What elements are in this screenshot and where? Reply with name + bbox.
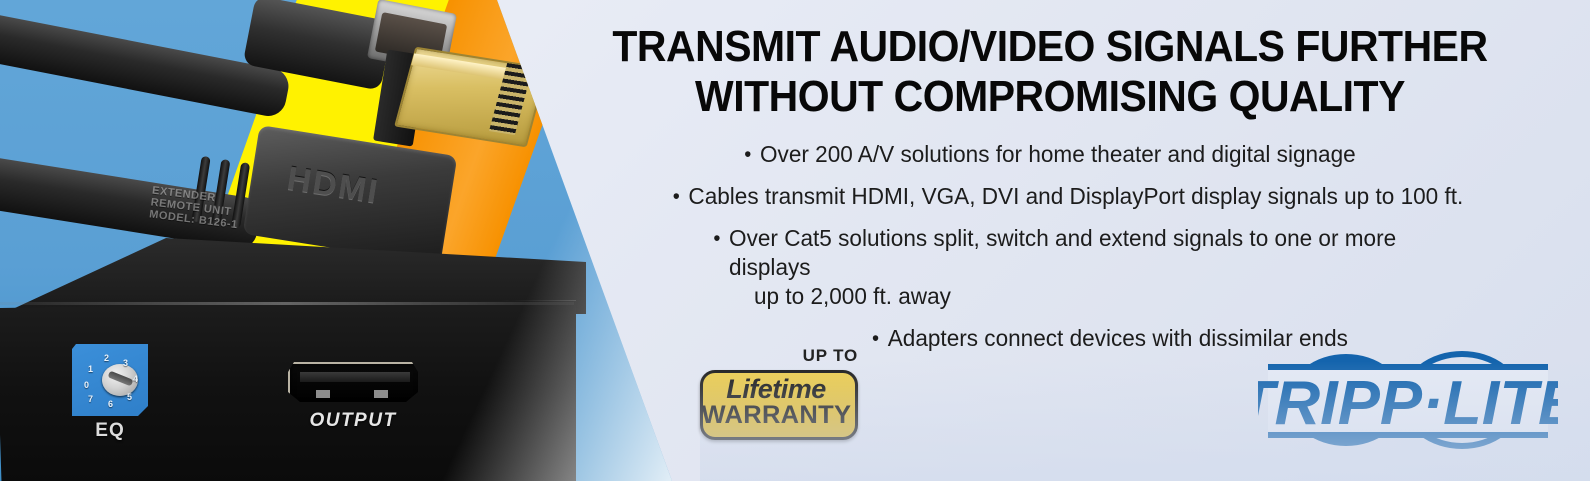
page-title: TRANSMIT AUDIO/VIDEO SIGNALS FURTHER WIT… [557, 22, 1543, 122]
warranty-badge-group: UP TO Lifetime WARRANTY [694, 346, 864, 438]
headline-line-2: WITHOUT COMPROMISING QUALITY [557, 72, 1543, 122]
eq-number-2: 2 [104, 353, 109, 363]
list-item: • Over 200 A/V solutions for home theate… [560, 140, 1539, 169]
eq-number-0: 0 [84, 380, 89, 390]
list-item: • Over Cat5 solutions split, switch and … [631, 224, 1541, 311]
status-badge: Lifetime WARRANTY [700, 370, 858, 440]
output-port-group: OUTPUT [288, 362, 448, 452]
list-item-label: Over Cat5 solutions split, switch and ex… [729, 224, 1459, 311]
eq-control-group: 0 1 2 3 4 5 6 7 EQ [62, 344, 180, 460]
eq-number-5: 5 [127, 392, 132, 402]
warranty-warranty-label: WARRANTY [702, 402, 851, 428]
list-item-label: Cables transmit HDMI, VGA, DVI and Displ… [688, 182, 1463, 211]
list-item-label-line-2: up to 2,000 ft. away [754, 282, 1459, 311]
bullet-marker-icon: • [713, 224, 720, 253]
logo-wordmark: TRIPP·LITE [1258, 369, 1558, 438]
warranty-lifetime-label: Lifetime [703, 375, 849, 403]
bullet-marker-icon: • [744, 140, 751, 169]
box-edge-highlight [0, 302, 574, 305]
hdmi-port-inner [300, 372, 410, 382]
bullet-marker-icon: • [872, 324, 879, 353]
eq-number-1: 1 [88, 364, 93, 374]
eq-number-6: 6 [108, 399, 113, 409]
output-label: OUTPUT [280, 410, 426, 432]
feature-list: • Over 200 A/V solutions for home theate… [540, 140, 1560, 366]
hdmi-port-tab-right [374, 390, 388, 398]
hdmi-output-port [288, 362, 422, 406]
warranty-up-to-label: UP TO [803, 346, 858, 366]
eq-dial-pad: 0 1 2 3 4 5 6 7 [72, 344, 148, 416]
eq-label: EQ [66, 420, 154, 442]
product-banner: HDMI EXTENDER REMOTE UNIT MODEL: B126-1 … [0, 0, 1590, 481]
eq-number-4: 4 [133, 374, 138, 384]
list-item-label-line-1: Over Cat5 solutions split, switch and ex… [729, 225, 1396, 280]
bullet-marker-icon: • [673, 182, 680, 211]
tripp-lite-logo: TRIPP·LITE [1258, 340, 1558, 460]
hdmi-port-tab-left [316, 390, 330, 398]
list-item-label: Over 200 A/V solutions for home theater … [760, 140, 1356, 169]
eq-number-7: 7 [88, 394, 93, 404]
headline-line-1: TRANSMIT AUDIO/VIDEO SIGNALS FURTHER [557, 22, 1543, 72]
eq-number-3: 3 [123, 358, 128, 368]
list-item: • Cables transmit HDMI, VGA, DVI and Dis… [596, 182, 1541, 211]
